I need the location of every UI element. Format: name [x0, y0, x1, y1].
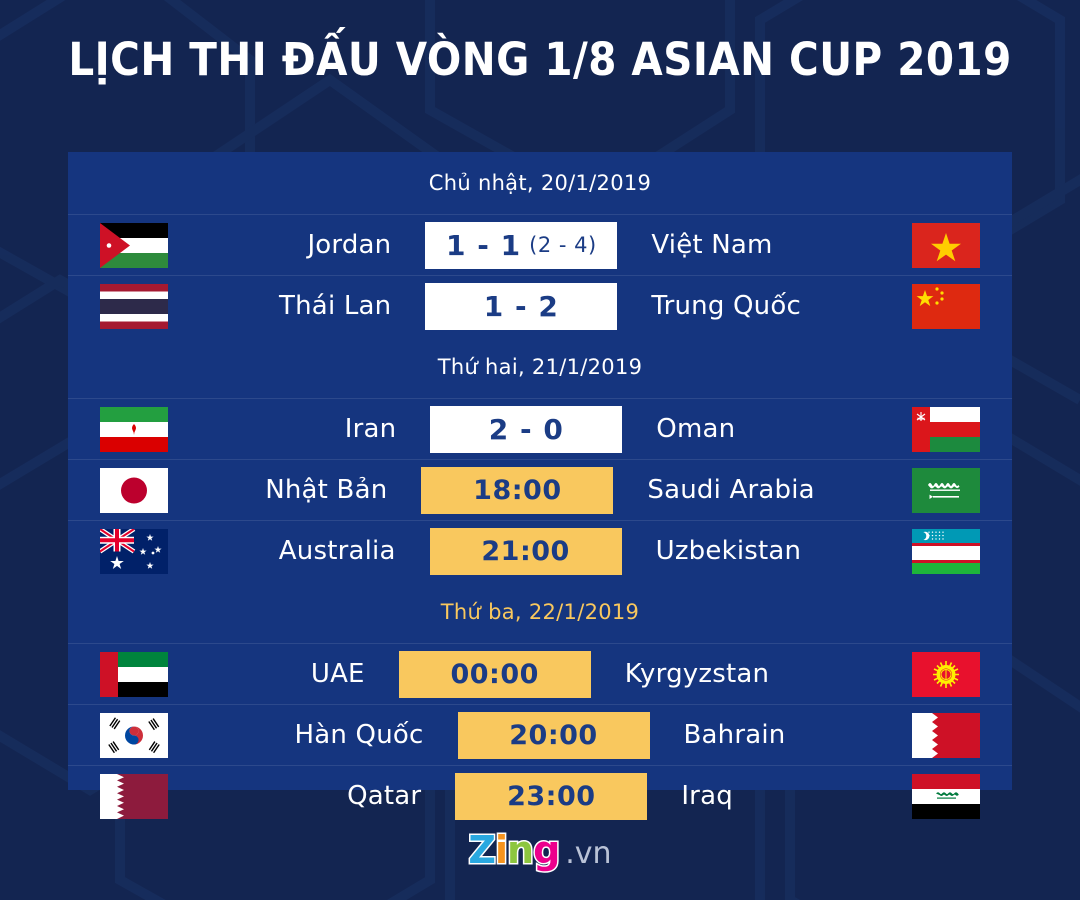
- away-team-name: Việt Nam: [617, 230, 880, 260]
- away-flag-cell: [880, 468, 1012, 513]
- uae-flag: [100, 652, 168, 697]
- kickoff-time-box: 00:00: [399, 651, 591, 698]
- kickoff-time-value: 20:00: [509, 720, 597, 751]
- result-cell: 18:00: [421, 467, 613, 514]
- kickoff-time-value: 18:00: [473, 475, 561, 506]
- home-team-name: Thái Lan: [200, 291, 425, 321]
- score-box: 1 - 2: [425, 283, 617, 330]
- result-cell: 20:00: [458, 712, 650, 759]
- match-row[interactable]: Jordan1 - 1(2 - 4)Việt Nam: [68, 214, 1012, 275]
- score-penalty-value: (2 - 4): [529, 233, 597, 257]
- zing-logo-letter: Z: [468, 828, 495, 872]
- match-row[interactable]: UAE00:00Kyrgyzstan: [68, 643, 1012, 704]
- away-flag-cell: [880, 713, 1012, 758]
- home-flag-cell: [68, 774, 200, 819]
- zing-logo[interactable]: Zing.vn: [468, 828, 611, 872]
- away-flag-cell: [880, 284, 1012, 329]
- kyrgyzstan-flag: [912, 652, 980, 697]
- date-header: Thứ hai, 21/1/2019: [68, 336, 1012, 398]
- result-cell: 00:00: [399, 651, 591, 698]
- date-header: Chủ nhật, 20/1/2019: [68, 152, 1012, 214]
- result-cell: 2 - 0: [430, 406, 622, 453]
- home-flag-cell: [68, 407, 200, 452]
- match-row[interactable]: Australia21:00Uzbekistan: [68, 520, 1012, 581]
- match-row[interactable]: Thái Lan1 - 2Trung Quốc: [68, 275, 1012, 336]
- score-value: 1 - 1: [446, 229, 521, 262]
- kickoff-time-value: 23:00: [507, 781, 595, 812]
- zing-logo-letter: g: [533, 828, 559, 872]
- footer: Zing.vn: [0, 820, 1080, 880]
- away-team-name: Saudi Arabia: [613, 475, 880, 505]
- home-team-name: UAE: [200, 659, 399, 689]
- qatar-flag: [100, 774, 168, 819]
- away-team-name: Iraq: [647, 781, 880, 811]
- kickoff-time-box: 23:00: [455, 773, 647, 820]
- away-flag-cell: [880, 407, 1012, 452]
- match-row[interactable]: Nhật Bản18:00Saudi Arabia: [68, 459, 1012, 520]
- iraq-flag: [912, 774, 980, 819]
- kickoff-time-box: 21:00: [430, 528, 622, 575]
- home-flag-cell: [68, 529, 200, 574]
- kickoff-time-box: 20:00: [458, 712, 650, 759]
- result-cell: 21:00: [430, 528, 622, 575]
- thailand-flag: [100, 284, 168, 329]
- away-flag-cell: [880, 223, 1012, 268]
- page-title: LỊCH THI ĐẤU VÒNG 1/8 ASIAN CUP 2019: [68, 33, 1011, 86]
- zing-logo-suffix: .vn: [565, 836, 611, 871]
- match-row[interactable]: Iran2 - 0Oman: [68, 398, 1012, 459]
- uzbekistan-flag: [912, 529, 980, 574]
- header-banner: LỊCH THI ĐẤU VÒNG 1/8 ASIAN CUP 2019: [0, 0, 1080, 118]
- score-box: 2 - 0: [430, 406, 622, 453]
- saudi-arabia-flag: [912, 468, 980, 513]
- zing-logo-letter: i: [495, 828, 507, 872]
- home-flag-cell: [68, 652, 200, 697]
- kickoff-time-box: 18:00: [421, 467, 613, 514]
- jordan-flag: [100, 223, 168, 268]
- china-flag: [912, 284, 980, 329]
- result-cell: 1 - 2: [425, 283, 617, 330]
- away-team-name: Bahrain: [650, 720, 881, 750]
- away-team-name: Kyrgyzstan: [591, 659, 880, 689]
- away-team-name: Trung Quốc: [617, 291, 880, 321]
- away-team-name: Oman: [622, 414, 880, 444]
- score-value: 1 - 2: [484, 290, 559, 323]
- away-flag-cell: [880, 774, 1012, 819]
- home-flag-cell: [68, 284, 200, 329]
- home-flag-cell: [68, 223, 200, 268]
- result-cell: 23:00: [455, 773, 647, 820]
- home-flag-cell: [68, 713, 200, 758]
- away-flag-cell: [880, 529, 1012, 574]
- home-team-name: Qatar: [200, 781, 455, 811]
- home-team-name: Hàn Quốc: [200, 720, 458, 750]
- match-row[interactable]: Qatar23:00Iraq: [68, 765, 1012, 826]
- kickoff-time-value: 21:00: [481, 536, 569, 567]
- oman-flag: [912, 407, 980, 452]
- result-cell: 1 - 1(2 - 4): [425, 222, 617, 269]
- iran-flag: [100, 407, 168, 452]
- away-team-name: Uzbekistan: [622, 536, 880, 566]
- date-header: Thứ ba, 22/1/2019: [68, 581, 1012, 643]
- match-row[interactable]: Hàn Quốc20:00Bahrain: [68, 704, 1012, 765]
- score-value: 2 - 0: [489, 413, 564, 446]
- schedule-panel: Chủ nhật, 20/1/2019 Jordan1 - 1(2 - 4)Vi…: [68, 152, 1012, 790]
- away-flag-cell: [880, 652, 1012, 697]
- zing-logo-letter: n: [507, 828, 533, 872]
- score-box: 1 - 1(2 - 4): [425, 222, 617, 269]
- home-team-name: Australia: [200, 536, 430, 566]
- home-team-name: Nhật Bản: [200, 475, 421, 505]
- home-flag-cell: [68, 468, 200, 513]
- kickoff-time-value: 00:00: [450, 659, 538, 690]
- japan-flag: [100, 468, 168, 513]
- bahrain-flag: [912, 713, 980, 758]
- home-team-name: Jordan: [200, 230, 425, 260]
- home-team-name: Iran: [200, 414, 430, 444]
- vietnam-flag: [912, 223, 980, 268]
- south-korea-flag: [100, 713, 168, 758]
- australia-flag: [100, 529, 168, 574]
